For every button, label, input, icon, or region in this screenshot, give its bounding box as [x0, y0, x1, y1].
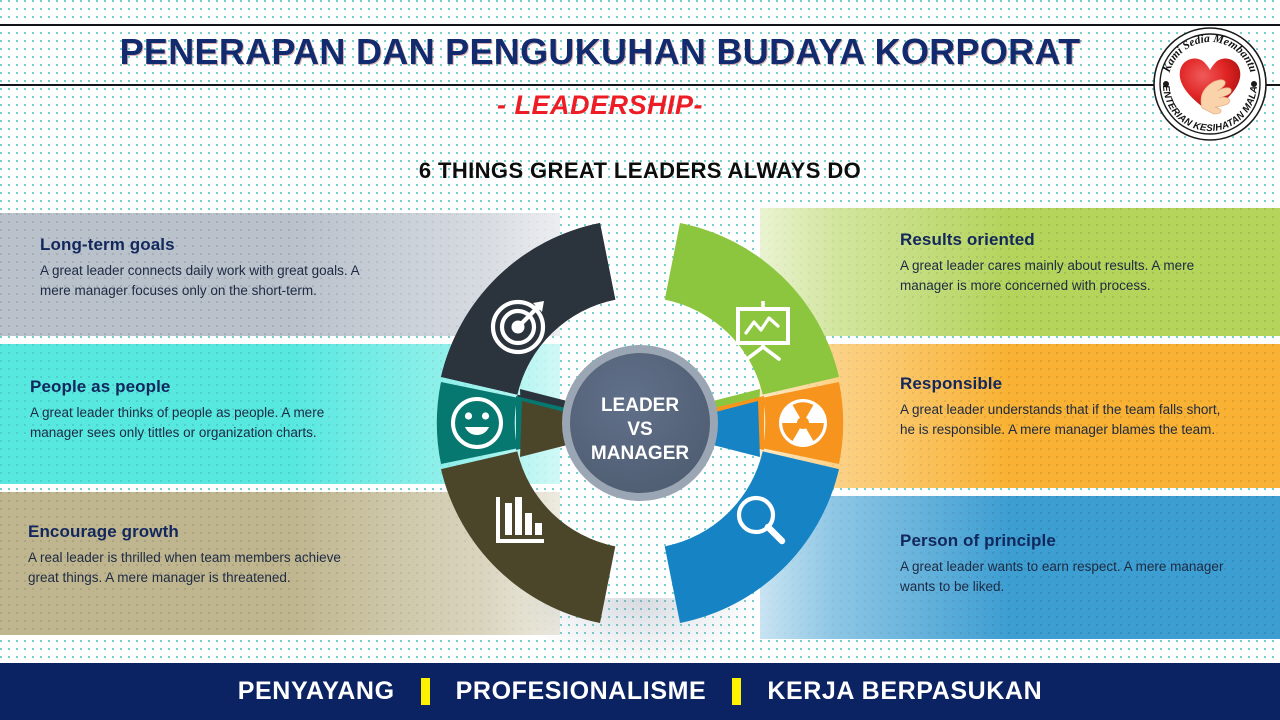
footer-separator-2: [732, 678, 741, 705]
section-title: 6 THINGS GREAT LEADERS ALWAYS DO: [0, 158, 1280, 184]
card-body-results-oriented: A great leader cares mainly about result…: [900, 256, 1230, 295]
leader-vs-manager-wheel: LEADER VS MANAGER: [398, 203, 882, 655]
center-line-2: VS: [627, 419, 652, 440]
wheel-center[interactable]: LEADER VS MANAGER: [562, 345, 718, 501]
page-title: PENERAPAN DAN PENGUKUHAN BUDAYA KORPORAT: [0, 31, 1200, 73]
card-title-long-term-goals: Long-term goals: [40, 235, 175, 255]
card-title-people-as-people: People as people: [30, 377, 170, 397]
card-title-person-of-principle: Person of principle: [900, 531, 1056, 551]
footer-word-kerja-berpasukan: KERJA BERPASUKAN: [767, 677, 1042, 706]
card-body-people-as-people: A great leader thinks of people as peopl…: [30, 403, 375, 442]
header-rule-top: [0, 24, 1280, 26]
kkm-logo-svg: Kami Sedia Membantu KEMENTERIAN KESIHATA…: [1152, 26, 1268, 142]
page-subtitle: - LEADERSHIP-: [0, 90, 1200, 121]
footer-bar: PENYAYANG PROFESIONALISME KERJA BERPASUK…: [0, 663, 1280, 720]
card-body-encourage-growth: A real leader is thrilled when team memb…: [28, 548, 373, 587]
card-title-encourage-growth: Encourage growth: [28, 522, 179, 542]
center-line-3: MANAGER: [591, 443, 689, 464]
center-line-1: LEADER: [601, 395, 679, 416]
header-rule-middle: [0, 84, 1280, 86]
card-body-long-term-goals: A great leader connects daily work with …: [40, 261, 380, 300]
card-title-results-oriented: Results oriented: [900, 230, 1035, 250]
radiation-icon: [779, 399, 827, 447]
footer-word-profesionalisme: PROFESIONALISME: [456, 677, 707, 706]
wheel-svg: LEADER VS MANAGER: [398, 203, 882, 655]
card-body-person-of-principle: A great leader wants to earn respect. A …: [900, 557, 1230, 596]
card-title-responsible: Responsible: [900, 374, 1002, 394]
footer-separator-1: [421, 678, 430, 705]
kkm-logo: Kami Sedia Membantu KEMENTERIAN KESIHATA…: [1152, 26, 1268, 142]
card-body-responsible: A great leader understands that if the t…: [900, 400, 1230, 439]
footer-word-penyayang: PENYAYANG: [238, 677, 395, 706]
slide-canvas: PENERAPAN DAN PENGUKUHAN BUDAYA KORPORAT…: [0, 0, 1280, 720]
